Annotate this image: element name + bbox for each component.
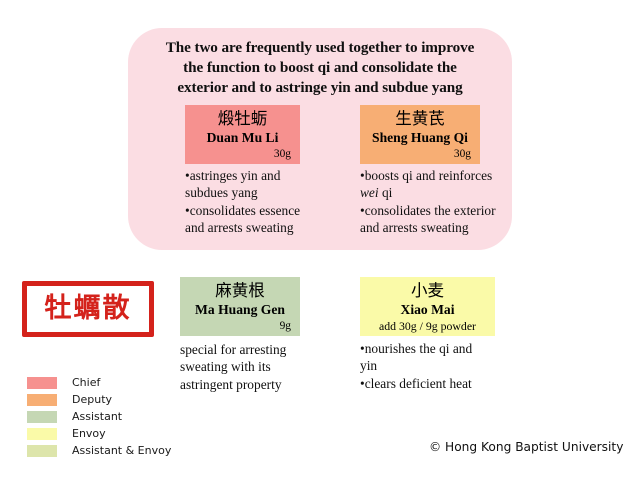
herb-note-line: special for arresting: [180, 341, 312, 358]
herb-dose-assistant: 9g: [186, 319, 294, 334]
legend-swatch-envoy: [27, 428, 57, 440]
herb-dose-chief: 30g: [191, 147, 294, 162]
group-heading-line-1: The two are frequently used together to …: [146, 38, 494, 58]
herb-cn-name-assistant: 麻黄根: [186, 280, 294, 301]
legend-item-assistant-and-envoy: Assistant & Envoy: [27, 442, 227, 459]
legend-label-assistant-and-envoy: Assistant & Envoy: [72, 444, 171, 457]
herb-pinyin-envoy: Xiao Mai: [366, 301, 489, 319]
legend-item-deputy: Deputy: [27, 391, 227, 408]
herb-cn-name-chief: 煅牡蛎: [191, 108, 294, 129]
legend-label-envoy: Envoy: [72, 427, 106, 440]
herb-note-line: •boosts qi and reinforces: [360, 167, 516, 184]
herb-cn-name-envoy: 小麦: [366, 280, 489, 301]
herb-head-chief: 煅牡蛎 Duan Mu Li 30g: [185, 105, 300, 164]
legend-item-chief: Chief: [27, 374, 227, 391]
herb-head-envoy: 小麦 Xiao Mai add 30g / 9g powder: [360, 277, 495, 336]
role-color-legend: Chief Deputy Assistant Envoy Assistant &…: [27, 374, 227, 459]
herb-card-chief[interactable]: 煅牡蛎 Duan Mu Li 30g •astringes yin and su…: [185, 105, 300, 237]
herb-notes-envoy: •nourishes the qi and yin •clears defici…: [360, 336, 500, 392]
group-heading: The two are frequently used together to …: [146, 38, 494, 98]
copyright-notice: © Hong Kong Baptist University: [429, 439, 623, 455]
herb-note-italic-term: wei: [360, 185, 379, 200]
legend-label-chief: Chief: [72, 376, 100, 389]
legend-swatch-deputy: [27, 394, 57, 406]
herb-card-deputy[interactable]: 生黄芪 Sheng Huang Qi 30g •boosts qi and re…: [360, 105, 480, 237]
herb-note-line: and arrests sweating: [360, 219, 516, 236]
herb-note-line: and arrests sweating: [185, 219, 317, 236]
herb-note-line: •astringes yin and: [185, 167, 317, 184]
legend-swatch-assistant-and-envoy: [27, 445, 57, 457]
group-heading-line-2: the function to boost qi and consolidate…: [146, 58, 494, 78]
legend-swatch-chief: [27, 377, 57, 389]
herb-note-line: •clears deficient heat: [360, 375, 500, 392]
herb-dose-deputy: 30g: [366, 147, 474, 162]
herb-head-deputy: 生黄芪 Sheng Huang Qi 30g: [360, 105, 480, 164]
legend-item-envoy: Envoy: [27, 425, 227, 442]
legend-label-deputy: Deputy: [72, 393, 112, 406]
herb-head-assistant: 麻黄根 Ma Huang Gen 9g: [180, 277, 300, 336]
formula-name-seal: 牡蠣散: [22, 281, 154, 337]
herb-note-line: subdues yang: [185, 184, 317, 201]
herb-note-line: wei qi: [360, 184, 516, 201]
herb-dose-envoy: add 30g / 9g powder: [366, 319, 489, 334]
group-heading-line-3: exterior and to astringe yin and subdue …: [146, 78, 494, 98]
formula-name-seal-text: 牡蠣散: [45, 294, 132, 324]
herb-note-line: yin: [360, 357, 500, 374]
herb-note-line: •consolidates essence: [185, 202, 317, 219]
legend-label-assistant: Assistant: [72, 410, 122, 423]
herb-notes-chief: •astringes yin and subdues yang •consoli…: [185, 164, 317, 237]
herb-notes-deputy: •boosts qi and reinforces wei qi •consol…: [360, 164, 516, 237]
herb-cn-name-deputy: 生黄芪: [366, 108, 474, 129]
slide-canvas: The two are frequently used together to …: [0, 0, 640, 480]
legend-item-assistant: Assistant: [27, 408, 227, 425]
herb-card-envoy[interactable]: 小麦 Xiao Mai add 30g / 9g powder •nourish…: [360, 277, 495, 392]
herb-pinyin-deputy: Sheng Huang Qi: [366, 129, 474, 147]
herb-pinyin-chief: Duan Mu Li: [191, 129, 294, 147]
herb-pinyin-assistant: Ma Huang Gen: [186, 301, 294, 319]
herb-note-line: •consolidates the exterior: [360, 202, 516, 219]
legend-swatch-assistant: [27, 411, 57, 423]
herb-note-line: •nourishes the qi and: [360, 340, 500, 357]
